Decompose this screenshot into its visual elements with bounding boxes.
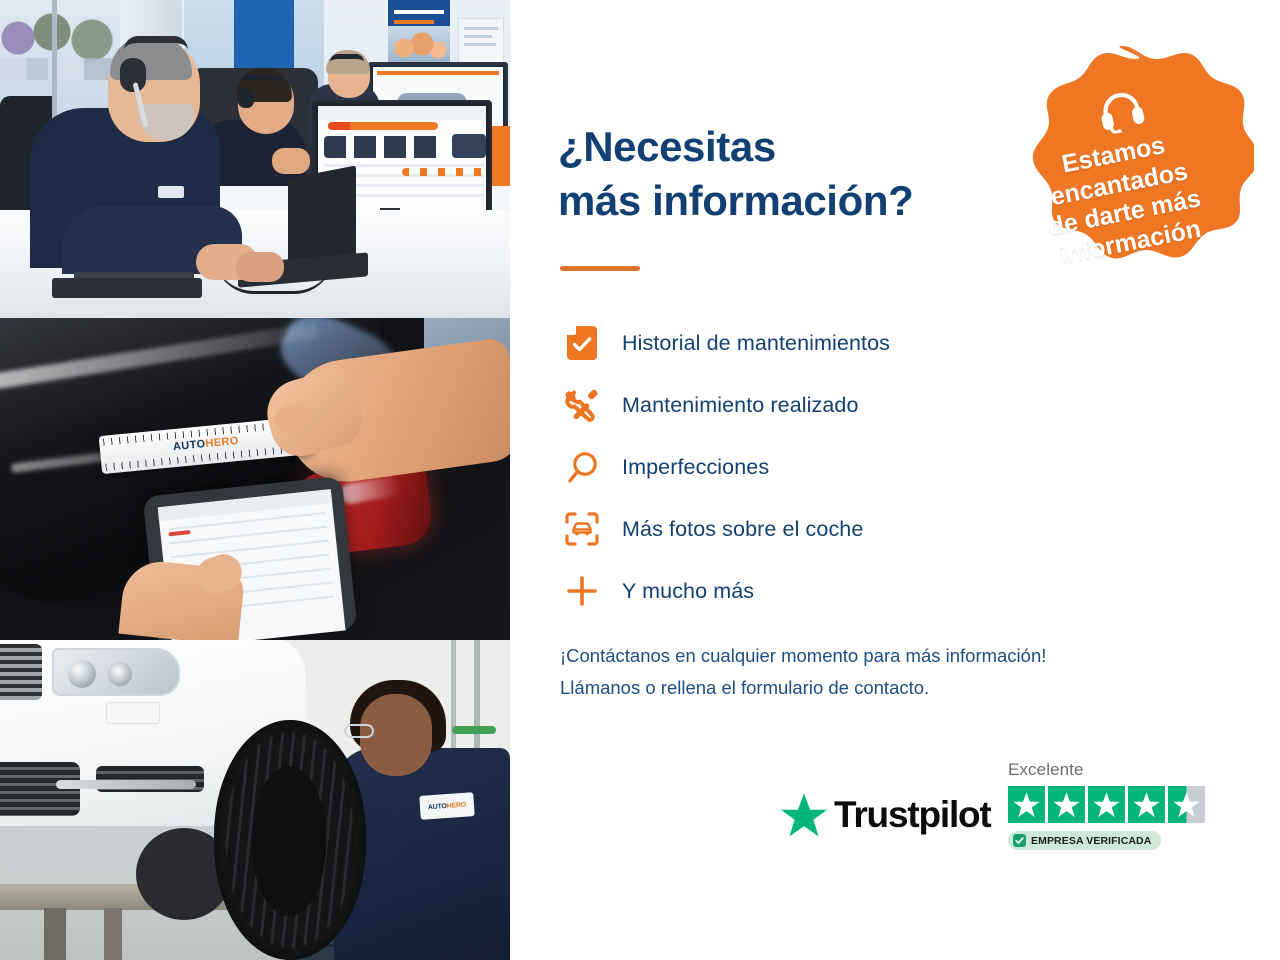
- photo1-agent-2-hand: [272, 148, 310, 174]
- feature-item-imperfecciones: Imperfecciones: [558, 436, 1078, 498]
- magnifier-icon: [558, 451, 606, 484]
- feature-item-historial: Historial de mantenimientos: [558, 312, 1078, 374]
- photo3-lift-leg-2: [104, 908, 122, 960]
- star-5-half: [1168, 786, 1205, 823]
- photo3-chrome-trim: [56, 780, 196, 789]
- photo3-lift-leg-1: [44, 908, 66, 960]
- shirt-brand-hero: HERO: [446, 801, 466, 809]
- photo1-agent-2-earcup: [238, 88, 254, 108]
- feature-item-fotos: Más fotos sobre el coche: [558, 498, 1078, 560]
- feature-label: Imperfecciones: [622, 455, 769, 480]
- title-divider: [560, 266, 640, 271]
- call-center-agents-photo: [0, 0, 510, 318]
- page-title-line-2: más información?: [558, 177, 913, 224]
- trustpilot-star-icon: [780, 792, 828, 838]
- verified-check-icon: [1013, 834, 1026, 847]
- star-1: [1008, 786, 1045, 823]
- feature-label: Más fotos sobre el coche: [622, 517, 863, 542]
- photo1-parked-cars: [0, 58, 120, 80]
- photo1-agent-2-headset: [240, 74, 284, 84]
- info-badge: Estamos encantados de darte más informac…: [990, 42, 1254, 314]
- trustpilot-wordmark: Trustpilot: [834, 794, 991, 836]
- feature-label: Mantenimiento realizado: [622, 393, 859, 418]
- wrench-screwdriver-icon: [558, 388, 606, 422]
- photo3-license-plate-area: [106, 702, 160, 724]
- contact-note-line-1: ¡Contáctanos en cualquier momento para m…: [560, 645, 1046, 666]
- plus-icon: [558, 575, 606, 607]
- photo1-agent-1-headset-band: [124, 36, 188, 50]
- ruler-brand-auto: AUTO: [172, 438, 206, 453]
- photo3-headlight: [52, 648, 180, 696]
- document-check-icon: [558, 326, 606, 360]
- promo-page: AUTOHERO: [0, 0, 1280, 960]
- star-2: [1048, 786, 1085, 823]
- star-3: [1088, 786, 1125, 823]
- photo1-keyboard: [52, 278, 202, 298]
- photo3-green-marker: [452, 726, 496, 734]
- trustpilot-rating-group: Excelente: [1008, 760, 1214, 852]
- feature-list: Historial de mantenimientos: [558, 312, 1078, 622]
- photo3-tire-inner: [252, 766, 326, 916]
- star-4: [1128, 786, 1165, 823]
- photo3-technician-glasses: [344, 724, 374, 738]
- page-title: ¿Necesitas más información?: [558, 120, 1028, 228]
- page-title-line-1: ¿Necesitas: [558, 123, 776, 170]
- trustpilot-block: Trustpilot Excelente: [780, 760, 1210, 888]
- star-rating: [1008, 786, 1214, 823]
- headset-icon: [1095, 86, 1149, 141]
- feature-label: Y mucho más: [622, 579, 754, 604]
- contact-note: ¡Contáctanos en cualquier momento para m…: [560, 640, 1240, 705]
- contact-note-line-2: Llámanos o rellena el formulario de cont…: [560, 677, 929, 698]
- photo1-agent-1-logo-badge: [158, 186, 184, 198]
- feature-item-mantenimiento: Mantenimiento realizado: [558, 374, 1078, 436]
- content-panel: ¿Necesitas más información? Estamos enc: [510, 0, 1280, 960]
- car-frame-icon: [558, 512, 606, 546]
- photo-column: AUTOHERO: [0, 0, 510, 960]
- shirt-brand-auto: AUTO: [428, 803, 447, 811]
- verified-label: EMPRESA VERIFICADA: [1031, 835, 1151, 847]
- rating-label: Excelente: [1008, 760, 1214, 780]
- photo1-poster-image: [388, 26, 450, 62]
- workshop-wheel-technician-photo: AUTOHERO: [0, 640, 510, 960]
- photo1-agent-1-hand-2: [236, 252, 284, 282]
- photo1-agent-3-headset: [330, 54, 364, 62]
- photo3-lower-grille-left: [0, 762, 80, 816]
- trustpilot-logo[interactable]: Trustpilot: [780, 792, 991, 838]
- photo3-technician-logo-badge: AUTOHERO: [419, 792, 475, 820]
- ruler-brand-hero: HERO: [205, 435, 239, 450]
- car-inspection-ruler-photo: AUTOHERO: [0, 318, 510, 640]
- feature-label: Historial de mantenimientos: [622, 331, 890, 356]
- feature-item-mucho-mas: Y mucho más: [558, 560, 1078, 622]
- verified-business-badge: EMPRESA VERIFICADA: [1008, 831, 1161, 850]
- photo3-front-grille: [0, 644, 42, 700]
